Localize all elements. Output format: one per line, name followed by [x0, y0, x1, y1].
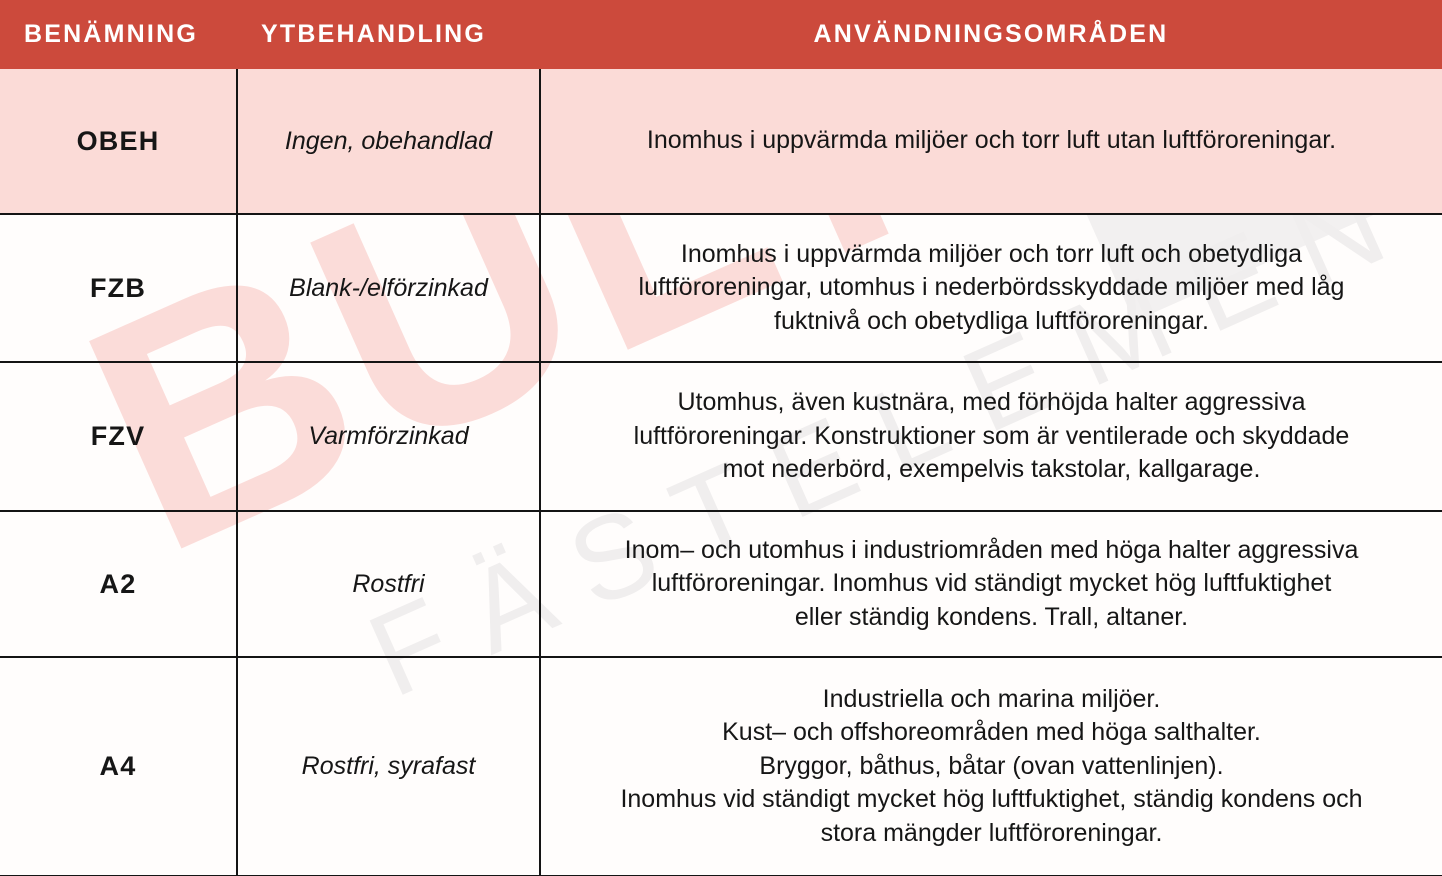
table-row: OBEHIngen, obehandladInomhus i uppvärmda…	[0, 69, 1442, 214]
table-row: FZBBlank-/elförzinkadInomhus i uppvärmda…	[0, 214, 1442, 362]
table-body: OBEHIngen, obehandladInomhus i uppvärmda…	[0, 69, 1442, 876]
usage-line: luftföroreningar. Konstruktioner som är …	[555, 420, 1428, 454]
usage-line: eller ständig kondens. Trall, altaner.	[555, 601, 1428, 635]
cell-ytbehandling: Ingen, obehandlad	[237, 69, 540, 214]
usage-line: Inomhus i uppvärmda miljöer och torr luf…	[555, 238, 1428, 272]
column-header-ytbehandling: YTBEHANDLING	[237, 0, 540, 69]
usage-line: luftföroreningar. Inomhus vid ständigt m…	[555, 567, 1428, 601]
cell-anvandningsomraden: Inom– och utomhus i industriområden med …	[540, 511, 1442, 657]
cell-benamning: FZB	[0, 214, 237, 362]
usage-line: Industriella och marina miljöer.	[555, 683, 1428, 717]
cell-benamning: FZV	[0, 362, 237, 511]
column-header-anvandningsomraden: ANVÄNDNINGSOMRÅDEN	[540, 0, 1442, 69]
cell-ytbehandling: Rostfri	[237, 511, 540, 657]
usage-line: Kust– och offshoreområden med höga salth…	[555, 716, 1428, 750]
cell-benamning: A2	[0, 511, 237, 657]
spec-table-container: BENÄMNING YTBEHANDLING ANVÄNDNINGSOMRÅDE…	[0, 0, 1442, 876]
usage-line: fuktnivå och obetydliga luftföroreningar…	[555, 305, 1428, 339]
cell-benamning: OBEH	[0, 69, 237, 214]
usage-line: Utomhus, även kustnära, med förhöjda hal…	[555, 386, 1428, 420]
cell-anvandningsomraden: Inomhus i uppvärmda miljöer och torr luf…	[540, 214, 1442, 362]
surface-treatment-table: BENÄMNING YTBEHANDLING ANVÄNDNINGSOMRÅDE…	[0, 0, 1442, 876]
column-header-benamning: BENÄMNING	[0, 0, 237, 69]
usage-line: mot nederbörd, exempelvis takstolar, kal…	[555, 453, 1428, 487]
usage-line: Inomhus i uppvärmda miljöer och torr luf…	[555, 124, 1428, 158]
usage-line: Inomhus vid ständigt mycket hög luftfukt…	[555, 783, 1428, 817]
usage-line: Inom– och utomhus i industriområden med …	[555, 534, 1428, 568]
header-row: BENÄMNING YTBEHANDLING ANVÄNDNINGSOMRÅDE…	[0, 0, 1442, 69]
table-row: A4Rostfri, syrafastIndustriella och mari…	[0, 657, 1442, 876]
usage-line: luftföroreningar, utomhus i nederbördssk…	[555, 271, 1428, 305]
cell-anvandningsomraden: Industriella och marina miljöer.Kust– oc…	[540, 657, 1442, 876]
table-row: A2RostfriInom– och utomhus i industriomr…	[0, 511, 1442, 657]
cell-anvandningsomraden: Inomhus i uppvärmda miljöer och torr luf…	[540, 69, 1442, 214]
usage-line: stora mängder luftföroreningar.	[555, 817, 1428, 851]
table-header: BENÄMNING YTBEHANDLING ANVÄNDNINGSOMRÅDE…	[0, 0, 1442, 69]
cell-ytbehandling: Varmförzinkad	[237, 362, 540, 511]
cell-ytbehandling: Blank-/elförzinkad	[237, 214, 540, 362]
cell-benamning: A4	[0, 657, 237, 876]
page-root: BULTAB FÄSTELEMENT BENÄMNING YTBEHANDLIN…	[0, 0, 1442, 876]
usage-line: Bryggor, båthus, båtar (ovan vattenlinje…	[555, 750, 1428, 784]
cell-ytbehandling: Rostfri, syrafast	[237, 657, 540, 876]
cell-anvandningsomraden: Utomhus, även kustnära, med förhöjda hal…	[540, 362, 1442, 511]
table-row: FZVVarmförzinkadUtomhus, även kustnära, …	[0, 362, 1442, 511]
